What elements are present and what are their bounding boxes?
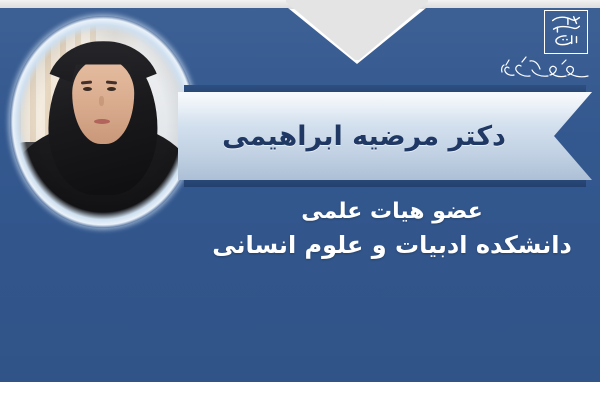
university-seal-icon: [544, 10, 588, 54]
person-name: دکتر مرضیه ابراهیمی: [178, 92, 550, 180]
logo-institution-text: دانشگاه شهید بهشتی: [593, 6, 594, 7]
profile-card: پرتره دکتر مرضیه ابراهیمی دکتر مرضیه ابر…: [0, 0, 600, 400]
affiliation-block: عضو هیات علمی دانشکده ادبیات و علوم انسا…: [196, 196, 588, 263]
logo-unit-text: روابط عمومی و اطلاع رسانی: [593, 6, 594, 7]
faculty-name: دانشکده ادبیات و علوم انسانی: [196, 228, 588, 263]
role-title: عضو هیات علمی: [196, 196, 588, 228]
portrait: پرتره دکتر مرضیه ابراهیمی: [10, 16, 196, 228]
portrait-ring: [10, 16, 196, 228]
name-ribbon: دکتر مرضیه ابراهیمی: [178, 92, 592, 180]
persian-calligraphy-icon: [500, 52, 592, 82]
university-logo: دانشگاه شهید بهشتی روابط عمومی و اطلاع ر…: [496, 6, 594, 84]
